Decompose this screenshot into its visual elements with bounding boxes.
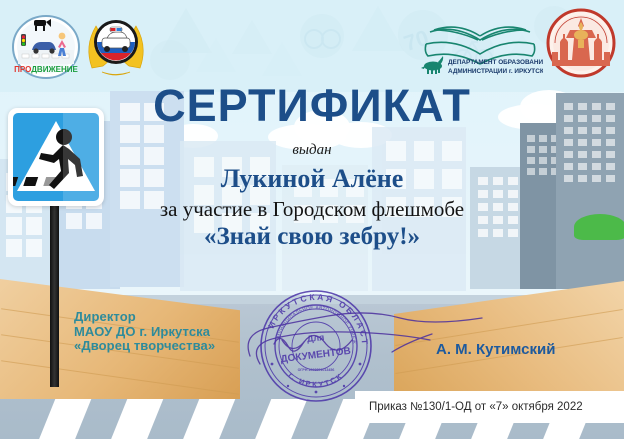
stamp-center-line2: ДОКУМЕНТОВ [280,346,351,366]
svg-text:г. ИРКУТСК: г. ИРКУТСК [287,371,345,389]
svg-text:ОГРН 1023801013456: ОГРН 1023801013456 [298,368,335,372]
department-of-education-logo: ДЕПАРТАМЕНТ ОБРАЗОВАНИЯ АДМИНИСТРАЦИИ г.… [418,16,543,78]
director-role-line3: «Дворец творчества» [74,339,215,354]
certificate-canvas: 70 [0,0,624,439]
department-line1: ДЕПАРТАМЕНТ ОБРАЗОВАНИЯ [448,59,543,66]
order-box: Приказ №130/1-ОД от «7» октября 2022 [355,391,624,423]
director-role-line2: МАОУ ДО г. Иркутска [74,325,215,340]
award-reason: за участие в Городском флешмобе [0,197,624,222]
event-name: «Знай свою зебру!» [0,223,624,251]
department-line2: АДМИНИСТРАЦИИ г. ИРКУТСКА [448,68,543,75]
irkutsk-church-emblem [546,8,616,78]
stamp-outer-bottom: г. ИРКУТСК [287,371,345,389]
stamp-center-line1: Для [306,332,324,344]
gibdd-emblem [82,10,150,80]
recipient-name: Лукиной Алёне [0,164,624,194]
director-role-line1: Директор [74,310,215,325]
prodvizhenie-logo: ПРОДВИЖЕНИЕ [10,14,82,80]
svg-text:ПРОДВИЖЕНИЕ: ПРОДВИЖЕНИЕ [14,65,78,74]
issued-label: выдан [0,142,624,159]
page-title: СЕРТИФИКАТ [0,80,624,132]
official-stamp: ИРКУТСКАЯ ОБЛАСТЬ г. ИРКУТСК МУНИЦИПАЛЬН… [258,288,374,404]
order-text: Приказ №130/1-ОД от «7» октября 2022 [369,401,583,413]
director-block: Директор МАОУ ДО г. Иркутска «Дворец тво… [74,310,215,354]
